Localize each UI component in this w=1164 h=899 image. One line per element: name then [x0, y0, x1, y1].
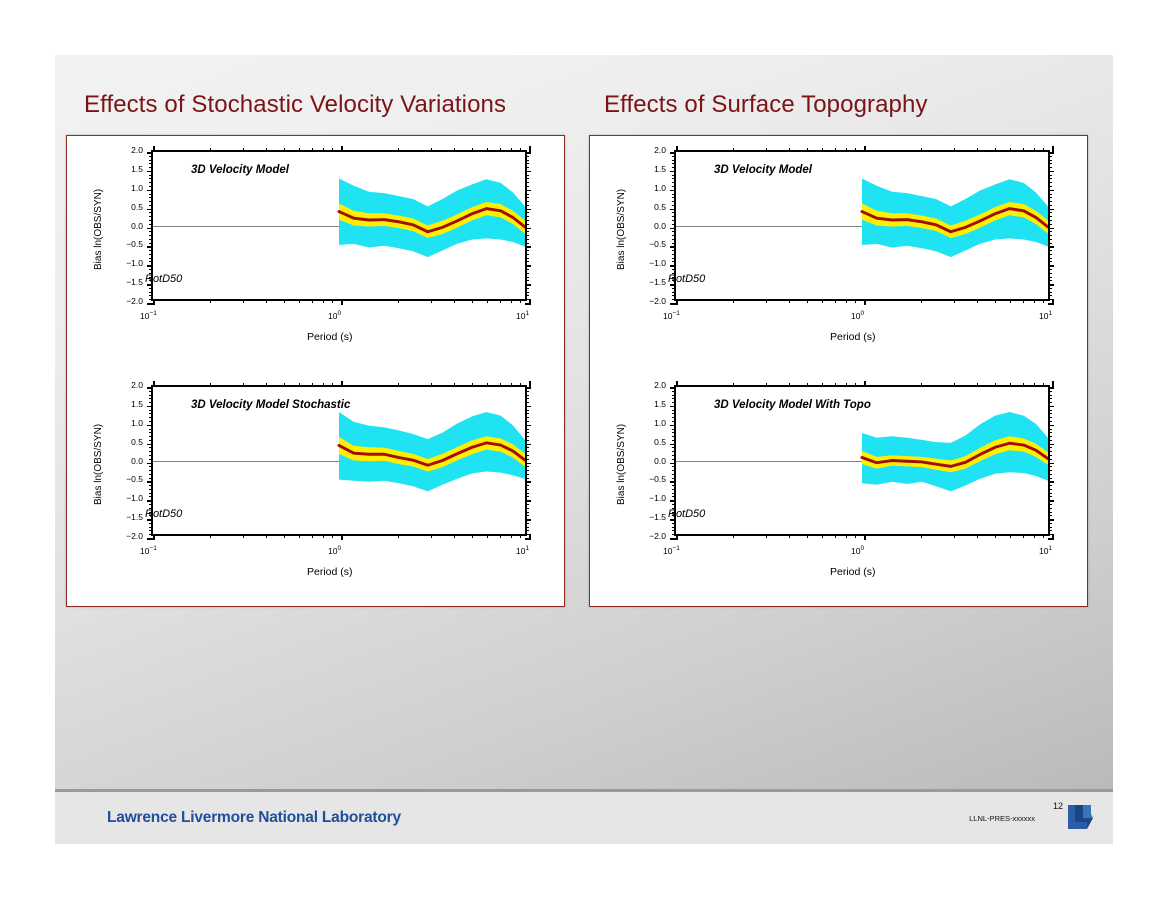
- y-axis-tick-right: [1048, 474, 1052, 475]
- x-axis-tick: [454, 299, 455, 303]
- y-axis-tick: [670, 265, 676, 267]
- y-axis-tick-right: [525, 205, 529, 206]
- y-axis-tick-right: [1048, 406, 1054, 408]
- y-axis-tick: [147, 171, 153, 173]
- y-axis-tick-label: −0.5: [117, 475, 143, 484]
- y-axis-tick-right: [525, 216, 529, 217]
- y-axis-tick: [672, 288, 676, 289]
- x-axis-tick-top: [766, 148, 767, 152]
- y-axis-tick-right: [525, 429, 529, 430]
- x-axis-tick: [1010, 534, 1011, 538]
- y-axis-tick: [147, 444, 153, 446]
- y-axis-tick: [149, 220, 153, 221]
- y-axis-tick-right: [1048, 485, 1052, 486]
- y-axis-tick: [149, 175, 153, 176]
- y-axis-tick: [672, 466, 676, 467]
- y-axis-tick-right: [525, 459, 529, 460]
- y-axis-tick: [672, 391, 676, 392]
- y-axis-tick-right: [1048, 152, 1054, 154]
- y-axis-tick-right: [1048, 171, 1054, 173]
- y-axis-tick-right: [525, 463, 531, 465]
- y-axis-tick: [670, 171, 676, 173]
- y-axis-tick: [149, 258, 153, 259]
- y-axis-tick: [672, 201, 676, 202]
- y-axis-title: Bias ln(OBS/SYN): [616, 188, 627, 269]
- y-axis-tick-label: 1.5: [117, 400, 143, 409]
- x-axis-tick-top: [454, 148, 455, 152]
- x-axis-tick: [807, 299, 808, 303]
- x-axis-tick-label: 101: [516, 310, 529, 321]
- column-title-left: Effects of Stochastic Velocity Variation…: [84, 91, 506, 119]
- x-axis-tick: [520, 534, 521, 538]
- y-axis-tick: [149, 470, 153, 471]
- y-axis-tick: [147, 425, 153, 427]
- x-axis-tick: [153, 534, 155, 540]
- y-axis-tick-label: −1.0: [640, 494, 666, 503]
- y-axis-tick: [149, 231, 153, 232]
- x-axis-tick: [855, 534, 856, 538]
- y-axis-tick: [147, 228, 153, 230]
- y-axis-tick-label: 2.0: [117, 146, 143, 155]
- x-axis-tick-top: [332, 148, 333, 152]
- y-axis-tick-label: −1.0: [640, 259, 666, 268]
- y-axis-tick: [672, 440, 676, 441]
- y-axis-tick-label: 1.0: [117, 419, 143, 428]
- plot-area: 3D Velocity Model: [674, 150, 1050, 301]
- x-axis-tick: [210, 299, 211, 303]
- x-axis-tick-label: 10−1: [663, 545, 680, 556]
- x-axis-tick-top: [243, 383, 244, 387]
- y-axis-tick-right: [525, 451, 529, 452]
- y-axis-tick: [149, 459, 153, 460]
- x-axis-tick-top: [1052, 146, 1054, 152]
- y-axis-tick: [149, 395, 153, 396]
- x-axis-tick: [846, 534, 847, 538]
- y-axis-tick-right: [1048, 429, 1052, 430]
- x-axis-tick-top: [299, 383, 300, 387]
- y-axis-tick-right: [525, 519, 531, 521]
- y-axis-tick-label: 0.0: [640, 457, 666, 466]
- y-axis-tick-label: 2.0: [117, 381, 143, 390]
- x-axis-tick: [299, 534, 300, 538]
- y-axis-tick: [149, 182, 153, 183]
- y-axis-tick-right: [1048, 436, 1052, 437]
- y-axis-tick-right: [1048, 508, 1052, 509]
- y-axis-tick-label: −0.5: [117, 240, 143, 249]
- y-axis-tick-right: [525, 209, 531, 211]
- y-axis-tick: [672, 493, 676, 494]
- x-axis-tick-top: [789, 148, 790, 152]
- y-axis-tick-right: [1048, 243, 1052, 244]
- y-axis-tick: [147, 387, 153, 389]
- y-axis-tick: [149, 523, 153, 524]
- y-axis-tick-right: [1048, 455, 1052, 456]
- x-axis-tick: [312, 534, 313, 538]
- x-axis-tick-top: [341, 146, 343, 152]
- x-axis-tick: [1043, 299, 1044, 303]
- y-axis-title: Bias ln(OBS/SYN): [93, 188, 104, 269]
- x-axis-tick-top: [243, 148, 244, 152]
- y-axis-tick-right: [1048, 395, 1052, 396]
- rotd50-annotation: RotD50: [145, 273, 182, 285]
- y-axis-tick-label: 1.5: [117, 165, 143, 174]
- y-axis-tick: [672, 235, 676, 236]
- x-axis-tick: [299, 299, 300, 303]
- y-axis-tick-right: [525, 447, 529, 448]
- x-axis-tick: [500, 299, 501, 303]
- x-axis-tick: [954, 299, 955, 303]
- x-axis-tick: [864, 534, 866, 540]
- y-axis-tick-right: [1048, 239, 1052, 240]
- y-axis-tick-right: [1048, 387, 1054, 389]
- y-axis-tick: [672, 186, 676, 187]
- y-axis-tick: [672, 254, 676, 255]
- y-axis-tick-right: [1048, 523, 1052, 524]
- y-axis-tick-right: [525, 254, 529, 255]
- x-axis-tick-top: [431, 148, 432, 152]
- x-axis-tick-top: [520, 148, 521, 152]
- x-axis-tick: [921, 299, 922, 303]
- x-axis-tick-top: [1043, 148, 1044, 152]
- y-axis-tick-right: [525, 231, 529, 232]
- y-axis-tick-right: [1048, 178, 1052, 179]
- x-axis-tick: [1052, 299, 1054, 305]
- column-title-right: Effects of Surface Topography: [604, 91, 928, 119]
- x-axis-tick-top: [1023, 148, 1024, 152]
- y-axis-tick-right: [525, 413, 529, 414]
- x-axis-tick: [398, 534, 399, 538]
- x-axis-tick: [846, 299, 847, 303]
- y-axis-tick: [147, 463, 153, 465]
- y-axis-tick-right: [1048, 292, 1052, 293]
- x-axis-tick: [835, 534, 836, 538]
- y-axis-tick-label: −2.0: [640, 297, 666, 306]
- x-axis-tick: [766, 299, 767, 303]
- x-axis-tick: [487, 534, 488, 538]
- y-axis-tick-right: [525, 190, 531, 192]
- y-axis-tick-right: [525, 402, 529, 403]
- x-axis-tick-top: [822, 383, 823, 387]
- y-axis-tick-right: [1048, 182, 1052, 183]
- x-axis-tick: [855, 299, 856, 303]
- x-axis-tick: [1034, 534, 1035, 538]
- y-axis-tick: [672, 231, 676, 232]
- y-axis-tick: [149, 243, 153, 244]
- y-axis-tick: [149, 493, 153, 494]
- y-axis-tick: [149, 474, 153, 475]
- plot-area: 3D Velocity Model With Topo: [674, 385, 1050, 536]
- x-axis-title: Period (s): [830, 566, 876, 578]
- x-axis-tick: [789, 534, 790, 538]
- y-axis-tick: [149, 432, 153, 433]
- x-axis-tick-top: [487, 383, 488, 387]
- x-axis-tick-top: [153, 146, 155, 152]
- slide-footer: Lawrence Livermore National Laboratory L…: [55, 792, 1113, 844]
- y-axis-tick-right: [1048, 527, 1052, 528]
- y-axis-tick-right: [1048, 167, 1052, 168]
- x-axis-tick-top: [822, 148, 823, 152]
- y-axis-tick-label: 2.0: [640, 381, 666, 390]
- y-axis-tick-right: [525, 523, 529, 524]
- y-axis-tick-label: 0.5: [640, 438, 666, 447]
- y-axis-tick-right: [1048, 216, 1052, 217]
- y-axis-tick-right: [525, 489, 529, 490]
- y-axis-tick: [672, 459, 676, 460]
- y-axis-tick: [672, 197, 676, 198]
- x-axis-tick: [1023, 534, 1024, 538]
- y-axis-tick: [149, 504, 153, 505]
- x-axis-tick: [243, 534, 244, 538]
- x-axis-tick: [398, 299, 399, 303]
- y-axis-tick: [149, 212, 153, 213]
- y-axis-tick-right: [525, 175, 529, 176]
- y-axis-tick: [149, 451, 153, 452]
- x-axis-tick-top: [921, 383, 922, 387]
- x-axis-tick-top: [846, 383, 847, 387]
- y-axis-tick-right: [1048, 493, 1052, 494]
- x-axis-tick-top: [341, 381, 343, 387]
- y-axis-tick: [149, 429, 153, 430]
- x-axis-tick-label: 10−1: [140, 310, 157, 321]
- y-axis-tick: [147, 265, 153, 267]
- x-axis-tick: [766, 534, 767, 538]
- y-axis-tick-right: [525, 288, 529, 289]
- x-axis-tick-top: [789, 383, 790, 387]
- y-axis-tick-right: [525, 496, 529, 497]
- x-axis-tick-top: [312, 148, 313, 152]
- y-axis-tick-right: [1048, 444, 1054, 446]
- rotd50-annotation: RotD50: [145, 508, 182, 520]
- y-axis-tick-label: −2.0: [117, 297, 143, 306]
- x-axis-tick-top: [520, 383, 521, 387]
- x-axis-tick-label: 10−1: [140, 545, 157, 556]
- x-axis-tick: [676, 299, 678, 305]
- y-axis-tick-right: [525, 504, 529, 505]
- y-axis-tick-right: [525, 527, 529, 528]
- y-axis-tick-right: [525, 387, 531, 389]
- y-axis-tick-right: [525, 156, 529, 157]
- x-axis-tick: [1010, 299, 1011, 303]
- y-axis-tick: [672, 402, 676, 403]
- y-axis-tick: [149, 224, 153, 225]
- x-axis-tick-top: [299, 148, 300, 152]
- y-axis-tick-right: [525, 167, 529, 168]
- x-axis-tick-top: [1034, 383, 1035, 387]
- y-axis-tick-right: [525, 530, 529, 531]
- y-axis-tick-right: [525, 182, 529, 183]
- y-axis-tick: [672, 216, 676, 217]
- y-axis-tick: [672, 261, 676, 262]
- y-axis-tick-right: [1048, 235, 1052, 236]
- x-axis-tick-label: 101: [516, 545, 529, 556]
- y-axis-tick-right: [1048, 489, 1052, 490]
- y-axis-tick: [672, 474, 676, 475]
- y-axis-tick-right: [525, 292, 529, 293]
- y-axis-tick-label: −2.0: [640, 532, 666, 541]
- y-axis-tick-right: [1048, 277, 1052, 278]
- y-axis-tick-label: 0.5: [117, 203, 143, 212]
- y-axis-tick: [672, 413, 676, 414]
- y-axis-tick-right: [525, 265, 531, 267]
- y-axis-tick: [670, 425, 676, 427]
- y-axis-tick-label: 0.5: [640, 203, 666, 212]
- y-axis-tick: [670, 387, 676, 389]
- y-axis-tick-right: [525, 261, 529, 262]
- y-axis-tick: [672, 410, 676, 411]
- y-axis-tick-right: [1048, 228, 1054, 230]
- y-axis-tick: [149, 235, 153, 236]
- y-axis-tick-right: [525, 235, 529, 236]
- y-axis-tick: [147, 209, 153, 211]
- y-axis-tick-right: [1048, 186, 1052, 187]
- y-axis-tick-label: −1.5: [117, 278, 143, 287]
- y-axis-tick-right: [525, 243, 529, 244]
- y-axis-tick: [672, 194, 676, 195]
- y-axis-tick-right: [525, 258, 529, 259]
- y-axis-tick-right: [1048, 163, 1052, 164]
- y-axis-tick-right: [1048, 265, 1054, 267]
- x-axis-tick: [822, 534, 823, 538]
- figure-panel-right: 3D Velocity Model2.01.51.00.50.0−0.5−1.0…: [589, 135, 1088, 607]
- x-axis-tick: [472, 534, 473, 538]
- x-axis-tick: [266, 534, 267, 538]
- x-axis-tick-top: [284, 383, 285, 387]
- x-axis-tick-top: [995, 148, 996, 152]
- x-axis-tick-top: [1034, 148, 1035, 152]
- y-axis-tick-right: [525, 295, 529, 296]
- y-axis-tick-right: [525, 152, 531, 154]
- y-axis-tick-right: [1048, 295, 1052, 296]
- y-axis-tick: [670, 406, 676, 408]
- y-axis-tick-right: [1048, 246, 1054, 248]
- y-axis-tick: [672, 205, 676, 206]
- y-axis-tick: [149, 167, 153, 168]
- x-axis-tick-top: [153, 381, 155, 387]
- y-axis-tick-right: [1048, 280, 1052, 281]
- x-axis-tick: [864, 299, 866, 305]
- y-axis-tick-right: [525, 194, 529, 195]
- x-axis-tick: [431, 299, 432, 303]
- x-axis-tick-top: [472, 148, 473, 152]
- y-axis-tick-right: [1048, 231, 1052, 232]
- llnl-logo-icon: [1065, 804, 1095, 830]
- y-axis-tick-right: [1048, 212, 1052, 213]
- y-axis-tick: [672, 417, 676, 418]
- y-axis-tick-right: [525, 485, 529, 486]
- x-axis-tick-top: [995, 383, 996, 387]
- x-axis-tick: [511, 299, 512, 303]
- y-axis-tick: [149, 398, 153, 399]
- y-axis-tick-right: [1048, 391, 1052, 392]
- y-axis-tick: [147, 190, 153, 192]
- y-axis-tick: [670, 190, 676, 192]
- x-axis-tick-top: [864, 146, 866, 152]
- y-axis-tick-right: [1048, 463, 1054, 465]
- y-axis-tick-right: [525, 220, 529, 221]
- x-axis-tick: [312, 299, 313, 303]
- rotd50-annotation: RotD50: [668, 273, 705, 285]
- y-axis-tick-right: [1048, 504, 1052, 505]
- y-axis-tick-right: [525, 186, 529, 187]
- x-axis-tick-top: [210, 383, 211, 387]
- y-axis-tick: [672, 395, 676, 396]
- y-axis-tick: [672, 167, 676, 168]
- plot-area: 3D Velocity Model: [151, 150, 527, 301]
- y-axis-tick: [149, 489, 153, 490]
- x-axis-tick: [1023, 299, 1024, 303]
- y-axis-tick: [672, 175, 676, 176]
- x-axis-tick: [995, 534, 996, 538]
- y-axis-tick-label: −1.0: [117, 494, 143, 503]
- x-axis-tick: [529, 299, 531, 305]
- y-axis-tick-right: [1048, 156, 1052, 157]
- y-axis-tick-right: [525, 224, 529, 225]
- y-axis-tick: [149, 410, 153, 411]
- y-axis-tick-label: −1.5: [117, 513, 143, 522]
- y-axis-tick-right: [525, 493, 529, 494]
- y-axis-tick-right: [525, 178, 529, 179]
- x-axis-tick-top: [210, 148, 211, 152]
- y-axis-tick-right: [1048, 413, 1052, 414]
- y-axis-tick-right: [525, 246, 531, 248]
- y-axis-tick: [672, 523, 676, 524]
- y-axis-tick-right: [525, 284, 531, 286]
- plot-title: 3D Velocity Model: [714, 164, 812, 176]
- y-axis-tick: [670, 481, 676, 483]
- y-axis-tick-right: [1048, 197, 1052, 198]
- y-axis-tick-right: [1048, 440, 1052, 441]
- chart-velocity-model-with-topo: 3D Velocity Model With Topo2.01.51.00.50…: [590, 371, 1087, 606]
- x-axis-tick: [454, 534, 455, 538]
- y-axis-tick-right: [525, 163, 529, 164]
- y-axis-tick-right: [525, 410, 529, 411]
- y-axis-tick: [672, 489, 676, 490]
- y-axis-tick-label: −0.5: [640, 240, 666, 249]
- x-axis-tick: [520, 299, 521, 303]
- y-axis-tick: [672, 239, 676, 240]
- plot-title: 3D Velocity Model: [191, 164, 289, 176]
- x-axis-tick-top: [864, 381, 866, 387]
- x-axis-tick: [341, 299, 343, 305]
- y-axis-tick-right: [525, 239, 529, 240]
- y-axis-tick: [149, 205, 153, 206]
- x-axis-tick: [733, 299, 734, 303]
- document-id: LLNL-PRES-xxxxxx: [969, 814, 1035, 823]
- y-axis-tick: [672, 504, 676, 505]
- y-axis-tick-label: 1.0: [117, 184, 143, 193]
- x-axis-tick-label: 101: [1039, 545, 1052, 556]
- y-axis-tick-right: [525, 455, 529, 456]
- x-axis-title: Period (s): [830, 331, 876, 343]
- y-axis-tick: [672, 485, 676, 486]
- y-axis-tick-right: [1048, 451, 1052, 452]
- y-axis-tick-label: 2.0: [640, 146, 666, 155]
- x-axis-tick: [921, 534, 922, 538]
- y-axis-tick: [147, 152, 153, 154]
- y-axis-tick-right: [1048, 398, 1052, 399]
- y-axis-tick: [149, 292, 153, 293]
- x-axis-tick-top: [487, 148, 488, 152]
- x-axis-tick-top: [1043, 383, 1044, 387]
- y-axis-tick: [670, 246, 676, 248]
- y-axis-tick: [672, 182, 676, 183]
- x-axis-tick: [284, 299, 285, 303]
- y-axis-tick: [672, 258, 676, 259]
- y-axis-tick: [149, 436, 153, 437]
- x-axis-tick-top: [398, 148, 399, 152]
- lab-name: Lawrence Livermore National Laboratory: [107, 809, 401, 827]
- x-axis-tick: [789, 299, 790, 303]
